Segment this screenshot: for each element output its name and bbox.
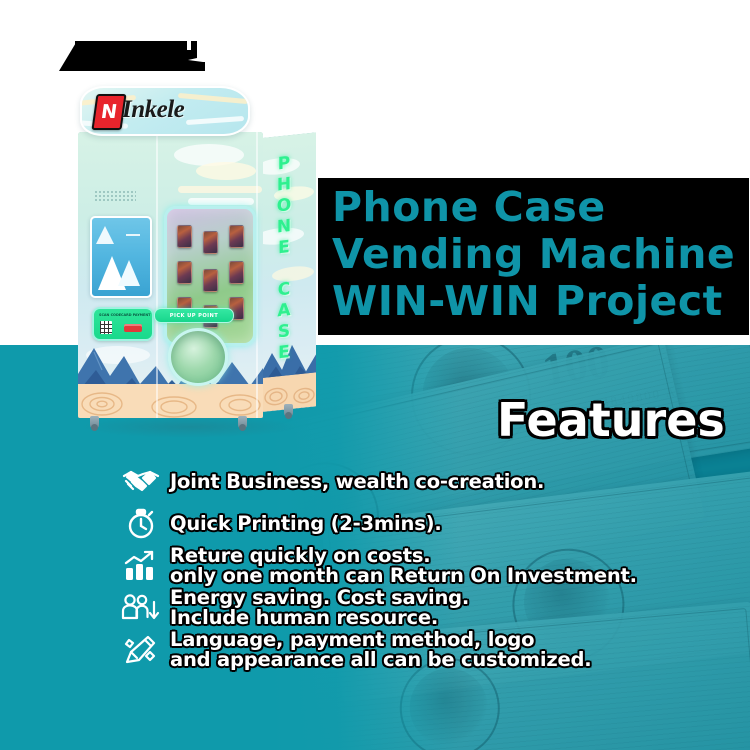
feature-text: Language, payment method, logo and appea… [170, 630, 591, 670]
feature-text: Quick Printing (2-3mins). [170, 514, 442, 534]
feature-line-2: and appearance all can be customized. [170, 650, 591, 670]
machine-front-body: SCAN CODE CARD PAYMENT [78, 132, 263, 418]
card-payment-label: CARD PAYMENT [121, 313, 151, 317]
speaker-grille [94, 190, 136, 202]
headline-block: Phone Case Vending Machine WIN-WIN Proje… [318, 178, 749, 335]
pickup-point-badge: PICK UP POINT [154, 308, 234, 323]
machine-wheel [238, 416, 247, 429]
scan-code-label: SCAN CODE [99, 313, 121, 317]
phone-case-item [177, 261, 192, 284]
machine-side-panel: PHONE CASE [262, 132, 316, 412]
feature-item: Joint Business, wealth co-creation. [112, 462, 672, 502]
feature-item: Quick Printing (2-3mins). [112, 504, 672, 544]
bar-chart-growth-icon [112, 546, 170, 586]
feature-line-1: Quick Printing (2-3mins). [170, 512, 442, 535]
machine-brand-word: Inkele [122, 96, 184, 124]
stopwatch-icon [112, 504, 170, 544]
feature-item: Language, payment method, logo and appea… [112, 630, 672, 670]
feature-text: Reture quickly on costs. only one month … [170, 546, 637, 586]
phone-case-item [229, 225, 244, 248]
features-heading-wrap: Features [497, 393, 725, 447]
feature-item: Reture quickly on costs. only one month … [112, 546, 672, 586]
card-reader-slot[interactable] [124, 324, 142, 332]
machine-shadow [80, 416, 300, 438]
pencil-customize-icon [112, 630, 170, 670]
phone-case-item [229, 261, 244, 284]
feature-text: Energy saving. Cost saving. Include huma… [170, 588, 469, 628]
payment-panel[interactable]: SCAN CODE CARD PAYMENT [92, 307, 154, 341]
feature-line-2: only one month can Return On Investment. [170, 566, 637, 586]
qr-scanner-icon[interactable] [100, 321, 112, 334]
machine-side-text: PHONE CASE [276, 153, 290, 364]
product-display-window [164, 206, 256, 346]
feature-line-1: Joint Business, wealth co-creation. [170, 470, 544, 493]
phone-case-item [203, 231, 218, 254]
phone-case-item [203, 269, 218, 292]
feature-text: Joint Business, wealth co-creation. [170, 472, 544, 492]
machine-wheel [90, 416, 99, 429]
headline-line-3: WIN-WIN Project [332, 278, 735, 325]
manufacturer-logo [57, 38, 205, 76]
features-list: Joint Business, wealth co-creation. [112, 462, 672, 672]
advertisement-screen[interactable] [90, 216, 152, 298]
poster-canvas: Phone Case Vending Machine WIN-WIN Proje… [0, 0, 750, 750]
machine-logo-plaque: N Inkele [80, 86, 250, 136]
pickup-bowl[interactable] [168, 328, 228, 386]
features-heading: Features [497, 393, 725, 447]
people-reduce-icon [112, 588, 170, 628]
vending-machine-image: PHONE CASE [70, 86, 320, 454]
headline-line-2: Vending Machine [332, 231, 735, 278]
feature-item: Energy saving. Cost saving. Include huma… [112, 588, 672, 628]
machine-wheel [284, 404, 293, 417]
pickup-point-label: PICK UP POINT [170, 313, 218, 319]
headline-line-1: Phone Case [332, 184, 735, 231]
phone-case-item [177, 225, 192, 248]
feature-line-2: Include human resource. [170, 608, 469, 628]
front-wood-art [78, 384, 263, 418]
handshake-icon [112, 462, 170, 502]
